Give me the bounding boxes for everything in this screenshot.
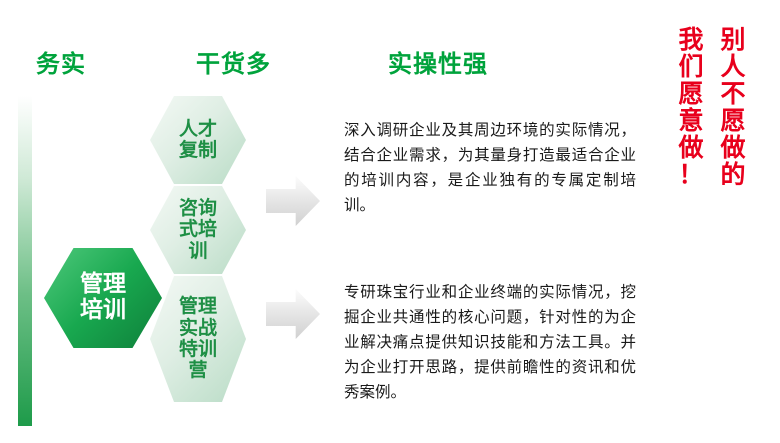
heading-highly-operable: 实操性强	[388, 44, 488, 79]
hexagon-main-label: 管理 培训	[74, 272, 132, 324]
hexagon-line: 营	[179, 360, 217, 381]
green-gradient-bar	[18, 96, 32, 426]
hexagon-main-line2: 培训	[80, 298, 126, 324]
arrow-right-icon	[266, 288, 320, 340]
hexagon-line: 训	[179, 241, 217, 262]
slogan-char: 我	[676, 26, 706, 53]
slogan-column-right: 别 人 不 愿 做 的	[718, 26, 748, 188]
hexagon-consulting-training[interactable]: 咨询 式培 训	[150, 186, 246, 274]
slogan-char: 做	[718, 134, 748, 161]
slogan-char: 愿	[676, 80, 706, 107]
slogan-char: 意	[676, 107, 706, 134]
slogan-char: 的	[718, 161, 748, 188]
hexagon-main-line1: 管理	[80, 272, 126, 298]
hexagon-line: 复制	[179, 140, 217, 161]
hexagon-line: 管理	[179, 296, 217, 317]
hexagon-line: 式培	[179, 219, 217, 240]
description-paragraph-1: 深入调研企业及其周边环境的实际情况，结合企业需求，为其量身打造最适合企业的培训内…	[344, 118, 636, 218]
hexagon-management-training[interactable]: 管理 培训	[44, 248, 162, 348]
hexagon-management-camp[interactable]: 管理 实战 特训 营	[150, 276, 246, 402]
hexagon-line: 特训	[179, 339, 217, 360]
hexagon-talent-replication-label: 人才 复制	[173, 119, 223, 162]
arrow-right-icon	[266, 175, 320, 227]
hexagon-talent-replication[interactable]: 人才 复制	[150, 96, 246, 184]
hexagon-management-camp-label: 管理 实战 特训 营	[173, 296, 223, 381]
hexagon-line: 实战	[179, 318, 217, 339]
heading-practical: 务实	[36, 44, 86, 79]
description-paragraph-2: 专研珠宝行业和企业终端的实际情况，挖掘企业共通性的核心问题，针对性的为企业解决痛…	[344, 280, 636, 406]
slogan-char: 不	[718, 80, 748, 107]
hexagon-consulting-training-label: 咨询 式培 训	[173, 198, 223, 262]
slogan-char: 愿	[718, 107, 748, 134]
slogan-column-left: 我 们 愿 意 做 ！	[676, 26, 706, 188]
hexagon-line: 咨询	[179, 198, 217, 219]
slogan-char: 人	[718, 53, 748, 80]
slogan-char: ！	[676, 161, 706, 188]
slogan-char: 做	[676, 134, 706, 161]
heading-rich-content: 干货多	[196, 44, 271, 79]
hexagon-line: 人才	[179, 119, 217, 140]
slogan-char: 别	[718, 26, 748, 53]
slide-canvas: 务实 干货多 实操性强 管理 培训 人才 复制 咨询 式培 训 管理 实战 特训…	[0, 0, 780, 443]
slogan-char: 们	[676, 53, 706, 80]
